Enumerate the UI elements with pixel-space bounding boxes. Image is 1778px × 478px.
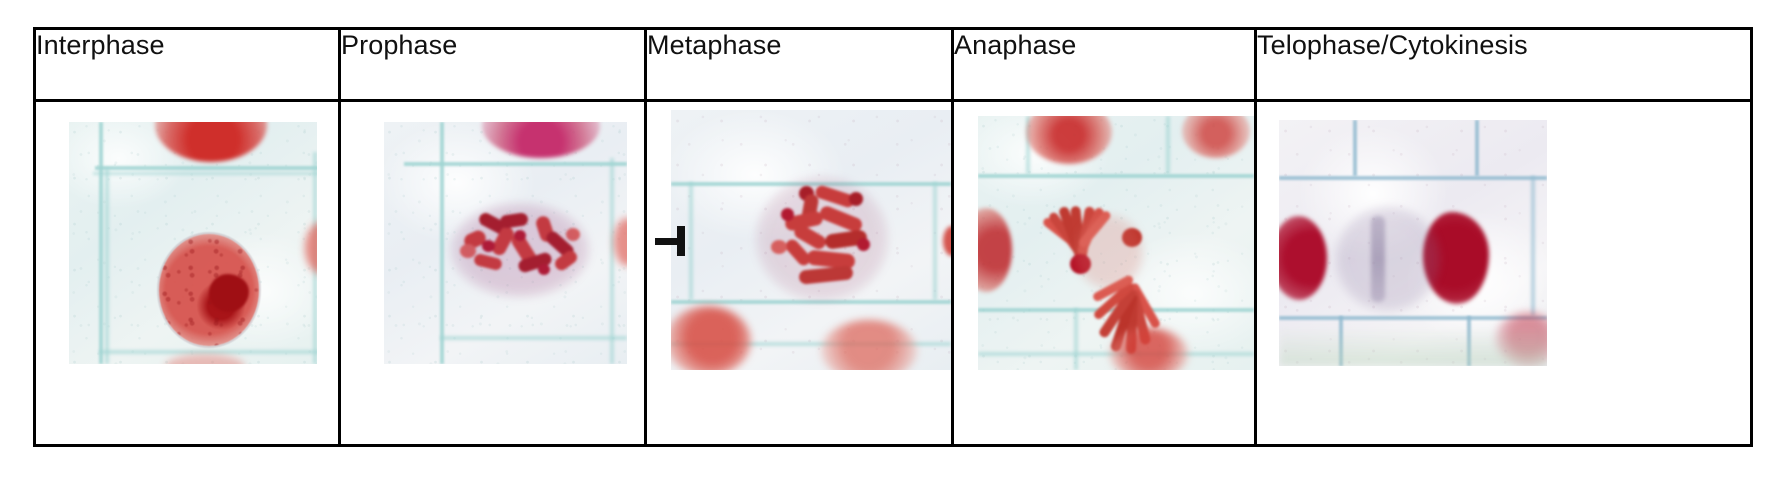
scale-bar-t-mark <box>655 226 689 256</box>
cell-wall-vertical <box>1353 120 1357 176</box>
tissue-tint <box>1279 326 1547 366</box>
cell-wall-vertical <box>1166 116 1170 174</box>
cell-wall-vertical <box>1531 176 1535 316</box>
cell-wall-horizontal <box>978 174 1254 178</box>
scale-bar-cap <box>677 226 685 256</box>
table-image-row <box>35 101 1752 446</box>
cell-telophase-cytokinesis <box>1256 101 1752 446</box>
header-cell-metaphase: Metaphase <box>646 29 953 101</box>
cell-wall-vertical <box>1074 308 1078 370</box>
cell-wall-vertical <box>610 158 614 364</box>
table-header-row: Interphase Prophase Metaphase Anaphase T… <box>35 29 1752 101</box>
cell-wall-vertical <box>933 182 937 300</box>
cell-anaphase <box>953 101 1256 446</box>
cell-wall-horizontal <box>1279 176 1547 180</box>
cell-wall-vertical <box>1475 120 1479 176</box>
prophase-micrograph <box>384 122 627 364</box>
cell-plate-halo <box>1335 206 1441 312</box>
mitosis-stages-table: Interphase Prophase Metaphase Anaphase T… <box>33 27 1753 447</box>
cell-prophase <box>340 101 646 446</box>
cell-metaphase <box>646 101 953 446</box>
telophase-cytokinesis-micrograph <box>1279 120 1547 366</box>
interphase-micrograph <box>69 122 317 364</box>
cell-wall-horizontal <box>93 172 317 175</box>
header-cell-interphase: Interphase <box>35 29 340 101</box>
cell-wall-vertical <box>440 122 444 364</box>
cell-wall-vertical <box>689 182 693 300</box>
cell-interphase <box>35 101 340 446</box>
cell-wall-horizontal <box>404 162 627 166</box>
spindle-halo <box>755 176 889 302</box>
anaphase-micrograph <box>978 116 1254 370</box>
cell-wall-vertical <box>99 122 103 364</box>
metaphase-micrograph <box>671 110 951 370</box>
header-cell-prophase: Prophase <box>340 29 646 101</box>
cell-wall-vertical <box>105 168 109 364</box>
header-cell-telophase-cytokinesis: Telophase/Cytokinesis <box>1256 29 1752 101</box>
cell-wall-horizontal <box>440 336 627 340</box>
spindle-region <box>1074 214 1144 290</box>
chromosome-halo <box>450 202 590 298</box>
header-cell-anaphase: Anaphase <box>953 29 1256 101</box>
figure-canvas: Interphase Prophase Metaphase Anaphase T… <box>0 0 1778 478</box>
cell-wall-horizontal <box>95 166 317 170</box>
